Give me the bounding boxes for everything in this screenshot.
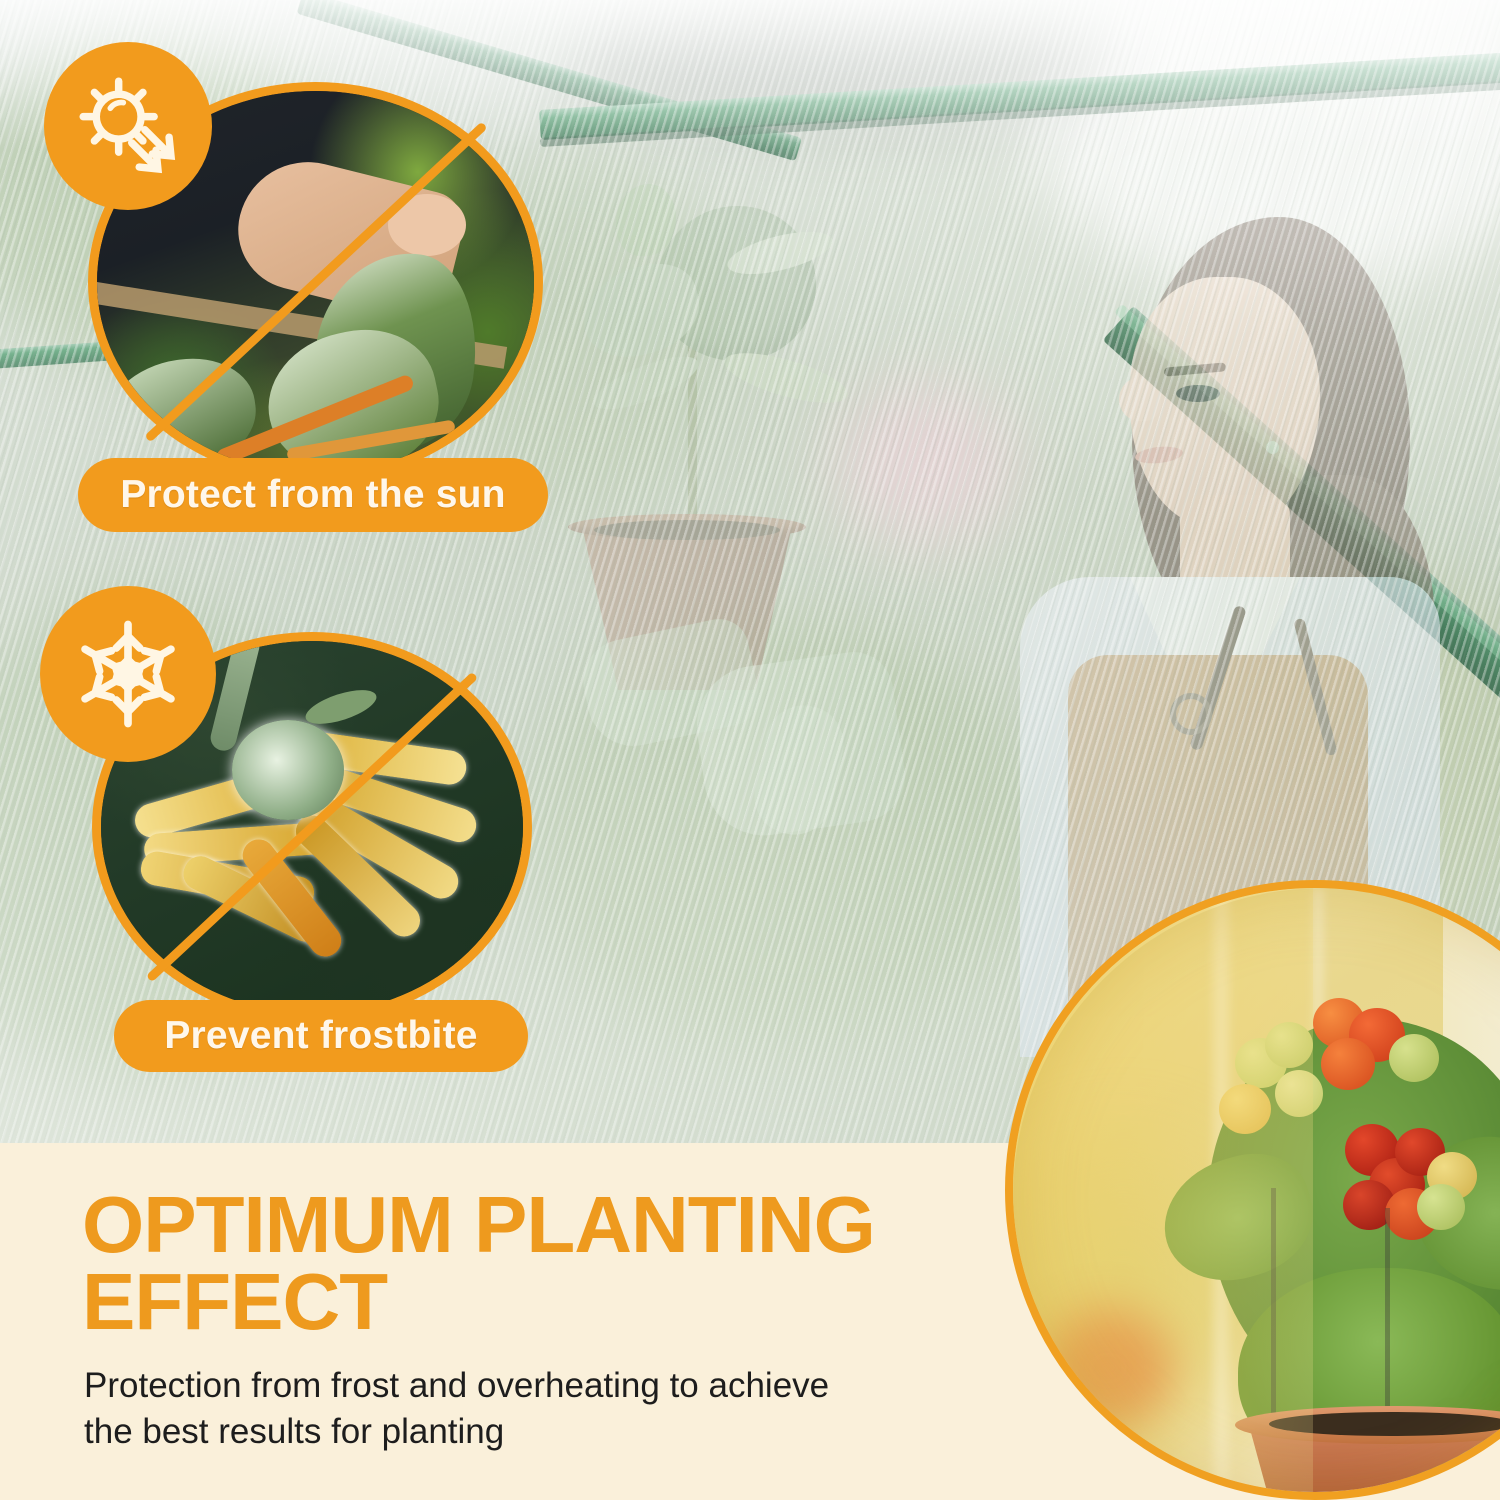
info-subcopy: Protection from frost and overheating to…: [84, 1363, 964, 1455]
info-subcopy-line2: the best results for planting: [84, 1409, 964, 1455]
snowflake-icon: [69, 615, 187, 733]
feature-badge-sun-label: Protect from the sun: [120, 473, 505, 517]
info-headline: OPTIMUM PLANTING EFFECT: [82, 1187, 962, 1341]
info-headline-line1: OPTIMUM PLANTING: [82, 1187, 962, 1264]
product-feature-poster: Protect from the sun: [0, 0, 1500, 1500]
info-headline-line2: EFFECT: [82, 1264, 962, 1341]
feature-badge-sun-label-pill: Protect from the sun: [78, 458, 548, 532]
sun-with-arrows-icon: [72, 70, 184, 182]
feature-badge-frost[interactable]: Prevent frostbite: [92, 632, 532, 1022]
sun-icon-bubble: [44, 42, 212, 210]
tomato-feature-circle[interactable]: [1005, 880, 1500, 1500]
snowflake-icon-bubble: [40, 586, 216, 762]
feature-badge-frost-label: Prevent frostbite: [164, 1014, 477, 1058]
info-subcopy-line1: Protection from frost and overheating to…: [84, 1363, 964, 1409]
feature-badge-frost-label-pill: Prevent frostbite: [114, 1000, 528, 1072]
feature-badge-sun[interactable]: Protect from the sun: [88, 82, 543, 482]
tomato-circle-ring: [1005, 880, 1500, 1500]
